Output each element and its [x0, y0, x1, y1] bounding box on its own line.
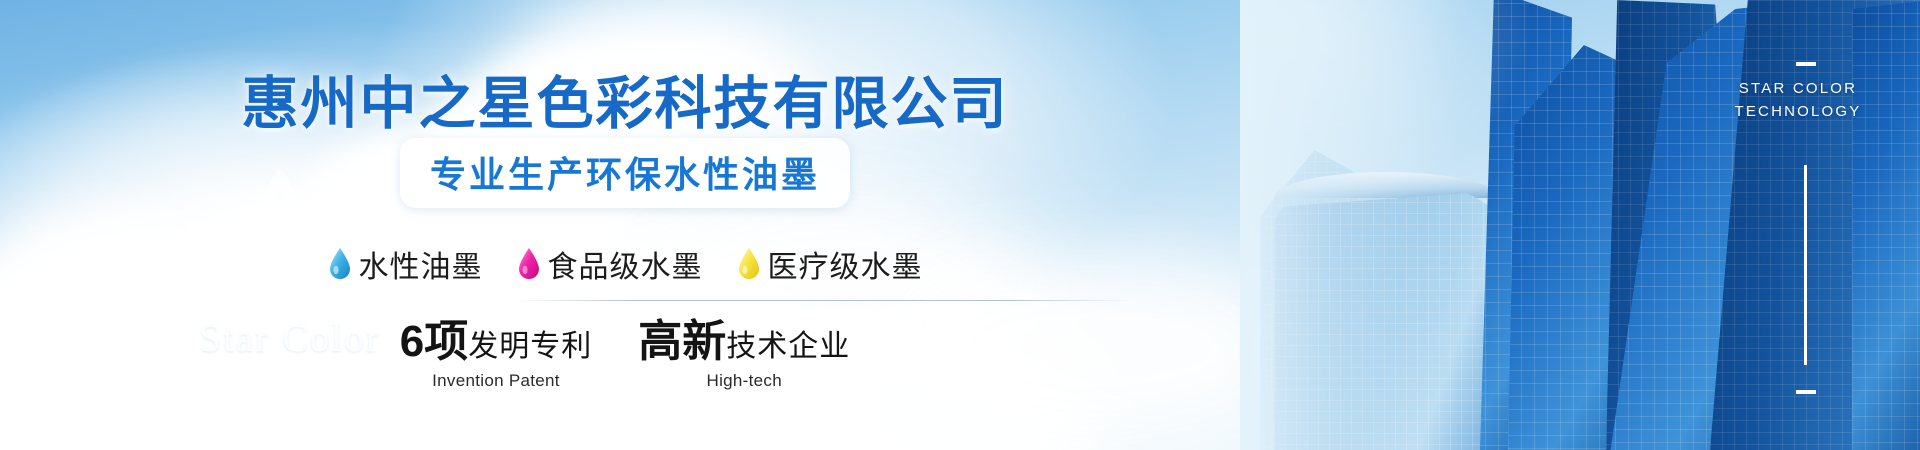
- badge-detail: 发明专利: [468, 330, 592, 363]
- building-brand-text: STAR COLOR TECHNOLOGY: [1708, 78, 1888, 124]
- water-drop-icon: [328, 247, 352, 281]
- subtitle-pill: 专业生产环保水性油墨: [400, 138, 850, 208]
- feature-item-medical-grade: 医疗级水墨: [737, 242, 923, 286]
- brand-dash-bottom: [1796, 390, 1816, 394]
- badge-highlight: 6项: [400, 317, 468, 366]
- badge-highlight: 高新: [638, 317, 726, 366]
- badge-chinese-line: 6项发明专利: [400, 320, 592, 364]
- subtitle-pill-wrapper: 专业生产环保水性油墨: [0, 138, 1250, 208]
- banner-content: 惠州中之星色彩科技有限公司 专业生产环保水性油墨 水性油: [0, 0, 1250, 450]
- feature-list: 水性油墨 食品级水墨: [0, 242, 1250, 286]
- building-round-tower: [1274, 180, 1499, 450]
- badge-high-tech: 高新技术企业 High-tech: [638, 320, 850, 391]
- badge-chinese-line: 高新技术企业: [638, 320, 850, 364]
- water-drop-icon: [737, 247, 761, 281]
- building-far-right: [1852, 0, 1920, 450]
- building-brand-line2: TECHNOLOGY: [1708, 101, 1888, 124]
- badge-english-line: High-tech: [638, 371, 850, 391]
- skyscrapers-photo: STAR COLOR TECHNOLOGY: [1240, 0, 1920, 450]
- feature-label: 水性油墨: [359, 242, 483, 286]
- credential-badges: 6项发明专利 Invention Patent 高新技术企业 High-tech: [0, 320, 1250, 391]
- brand-dash-top: [1796, 62, 1816, 66]
- water-drop-icon: [517, 247, 541, 281]
- feature-item-water-ink: 水性油墨: [328, 242, 483, 286]
- company-headline: 惠州中之星色彩科技有限公司: [0, 58, 1250, 140]
- section-divider: [512, 300, 1132, 301]
- promo-banner: Star Color STAR COLOR TECHNOLOGY 惠州中之星色彩…: [0, 0, 1920, 450]
- badge-english-line: Invention Patent: [400, 371, 592, 391]
- feature-item-food-grade: 食品级水墨: [517, 242, 703, 286]
- feature-label: 医疗级水墨: [768, 242, 923, 286]
- building-brand-line1: STAR COLOR: [1708, 78, 1888, 101]
- badge-invention-patent: 6项发明专利 Invention Patent: [400, 320, 592, 391]
- feature-label: 食品级水墨: [548, 242, 703, 286]
- badge-detail: 技术企业: [726, 330, 850, 363]
- brand-vertical-rule: [1804, 165, 1807, 365]
